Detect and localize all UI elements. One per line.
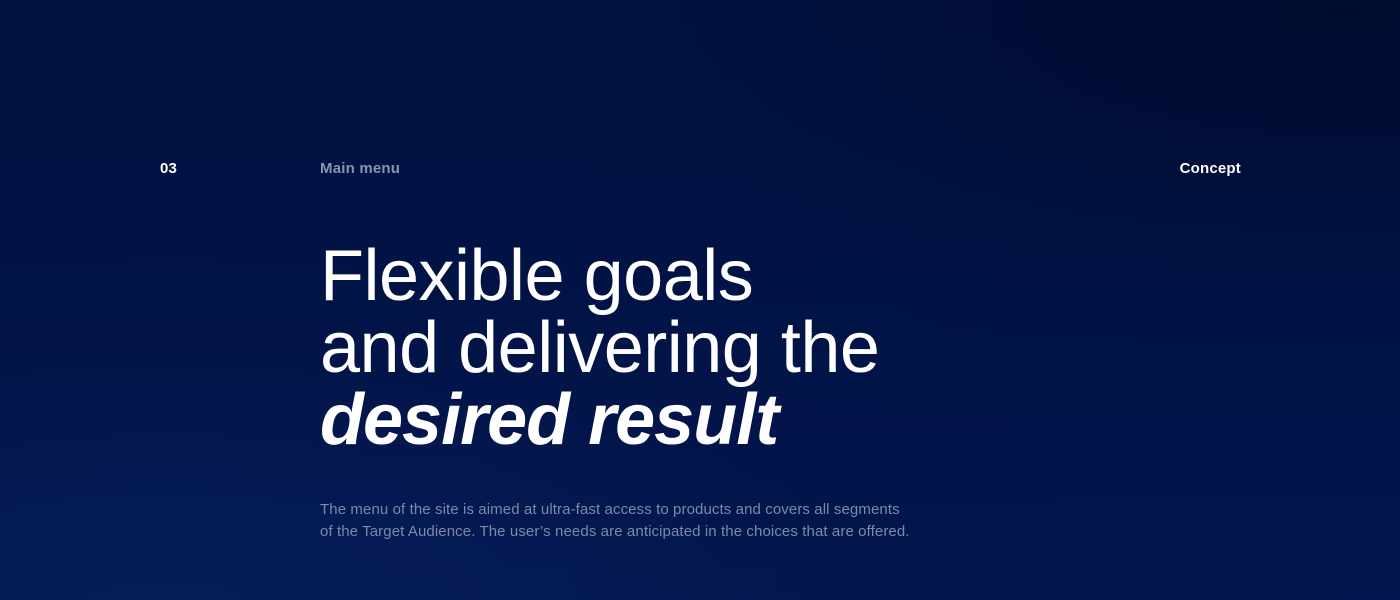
headline-line-3-emphasis: desired result bbox=[320, 384, 1220, 456]
body-paragraph: The menu of the site is aimed at ultra-f… bbox=[320, 499, 920, 543]
slide-header: 03 Main menu Concept bbox=[0, 155, 1400, 183]
slide-number: 03 bbox=[160, 155, 177, 183]
headline-line-2: and delivering the bbox=[320, 312, 1220, 384]
presentation-slide: 03 Main menu Concept Flexible goals and … bbox=[0, 0, 1400, 600]
section-label-main-menu: Main menu bbox=[320, 155, 400, 183]
page-title: Flexible goals and delivering the desire… bbox=[320, 240, 1220, 456]
body-paragraph-line-1: The menu of the site is aimed at ultra-f… bbox=[320, 499, 920, 521]
headline-line-1: Flexible goals bbox=[320, 240, 1220, 312]
body-paragraph-line-2: of the Target Audience. The user’s needs… bbox=[320, 521, 920, 543]
category-label-concept: Concept bbox=[1180, 155, 1241, 183]
